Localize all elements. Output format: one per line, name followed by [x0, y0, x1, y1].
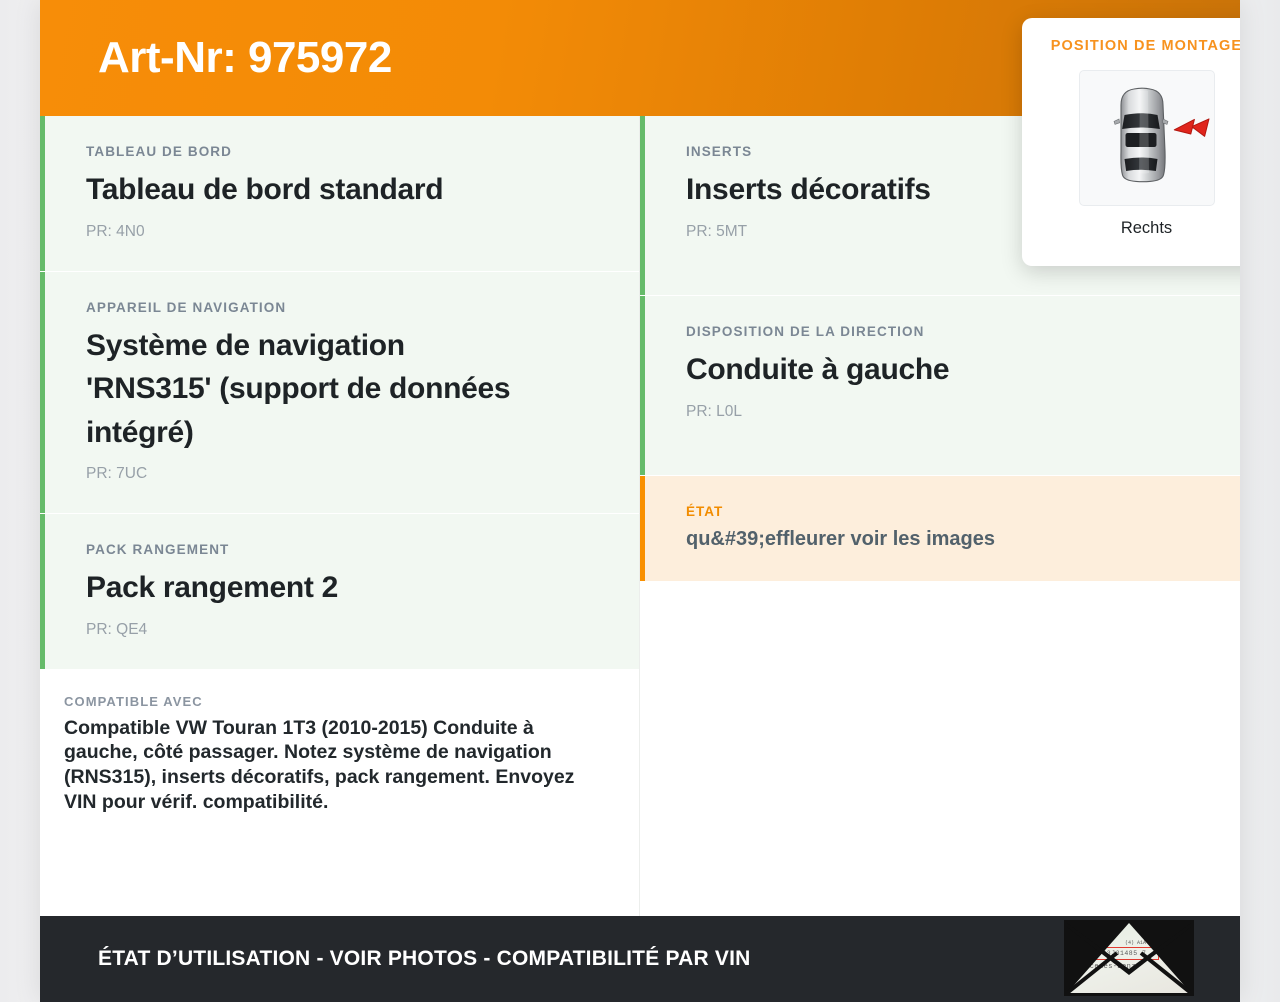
mount-position-card[interactable]: POSITION DE MONTAGE [1022, 18, 1240, 266]
spec-code: PR: 4N0 [86, 223, 593, 241]
etat-label: ÉTAT [686, 504, 1194, 519]
spec-code: PR: QE4 [86, 621, 593, 639]
spec-row-dashboard[interactable]: TABLEAU DE BORD Tableau de bord standard… [40, 116, 639, 272]
spec-row-etat[interactable]: ÉTAT qu&#39;effleurer voir les images [640, 476, 1240, 582]
etat-text: qu&#39;effleurer voir les images [686, 528, 1194, 551]
specs-column-left: TABLEAU DE BORD Tableau de bord standard… [40, 116, 640, 922]
vin-document-thumbnail[interactable]: Fahrgestellnr. (4) A1A W1171463J31485 7 … [1064, 920, 1194, 996]
compatibility-section: COMPATIBLE AVEC Compatible VW Touran 1T3… [40, 670, 639, 847]
article-number-title: Art-Nr: 975972 [98, 36, 392, 80]
spec-label: DISPOSITION DE LA DIRECTION [686, 324, 1194, 339]
right-column-filler [640, 582, 1240, 922]
compatibility-text: Compatible VW Touran 1T3 (2010-2015) Con… [64, 716, 593, 815]
spec-label: APPAREIL DE NAVIGATION [86, 300, 593, 315]
mount-position-image [1079, 70, 1215, 206]
page-footer: ÉTAT D’UTILISATION - VOIR PHOTOS - COMPA… [40, 916, 1240, 1002]
spec-row-navigation[interactable]: APPAREIL DE NAVIGATION Système de naviga… [40, 272, 639, 515]
spec-value: Système de navigation 'RNS315' (support … [86, 324, 516, 455]
spec-value: Pack rangement 2 [86, 566, 593, 610]
spec-label: PACK RANGEMENT [86, 542, 593, 557]
spec-code: PR: L0L [686, 403, 1194, 421]
spec-label: TABLEAU DE BORD [86, 144, 593, 159]
spec-value: Tableau de bord standard [86, 168, 593, 212]
spec-code: PR: 7UC [86, 465, 593, 483]
spec-value: Conduite à gauche [686, 348, 1194, 392]
footer-banner-text: ÉTAT D’UTILISATION - VOIR PHOTOS - COMPA… [98, 947, 750, 971]
spec-row-steering-layout[interactable]: DISPOSITION DE LA DIRECTION Conduite à g… [640, 296, 1240, 476]
mount-position-caption: Rechts [1022, 219, 1240, 238]
compatibility-label: COMPATIBLE AVEC [64, 694, 593, 709]
envelope-fold-icon [1067, 923, 1191, 993]
spec-row-storage-pack[interactable]: PACK RANGEMENT Pack rangement 2 PR: QE4 [40, 514, 639, 670]
product-listing-page: Art-Nr: 975972 TABLEAU DE BORD Tableau d… [40, 0, 1240, 1002]
red-arrow-icon [1174, 111, 1209, 137]
mount-position-title: POSITION DE MONTAGE [1022, 38, 1240, 54]
car-top-view-with-arrow-icon [1080, 71, 1216, 207]
